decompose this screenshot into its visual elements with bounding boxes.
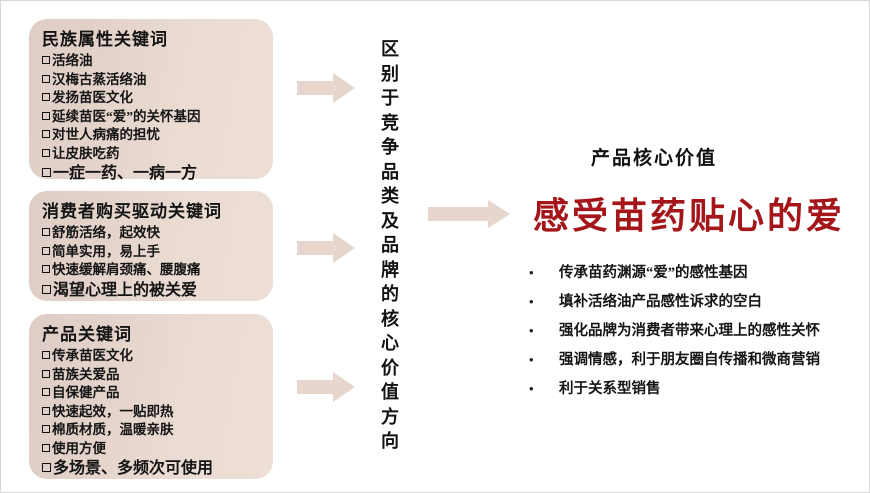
keyword-item: 多场景、多频次可使用 [42, 458, 263, 479]
vertical-char: 于 [377, 86, 403, 111]
keyword-item-label: 汉梅古蒸活络油 [52, 72, 147, 87]
keyword-item-label: 延续苗医“爱”的关怀基因 [52, 109, 201, 124]
keyword-item: 一症一药、一病一方 [42, 163, 263, 184]
vertical-char: 竞 [377, 111, 403, 136]
keyword-item: 快速缓解肩颈痛、腰腹痛 [42, 261, 263, 280]
keyword-item-label: 对世人病痛的担忧 [52, 127, 160, 142]
keyword-item-label: 多场景、多频次可使用 [53, 460, 213, 477]
arrow-head-icon [488, 200, 510, 228]
benefit-list-item: 传承苗药渊源“爱”的感性基因 [521, 259, 820, 288]
keyword-box-ethnic-attributes: 民族属性关键词 活络油 汉梅古蒸活络油 发扬苗医文化 延续苗医“爱”的关怀基因 … [29, 19, 273, 179]
vertical-char: 向 [377, 429, 403, 454]
keyword-box-product: 产品关键词 传承苗医文化 苗族关爱品 自保健产品 快速起效，一贴即热 棉质材质，… [29, 314, 273, 479]
keyword-list: 传承苗医文化 苗族关爱品 自保健产品 快速起效，一贴即热 棉质材质，温暖亲肤 使… [42, 347, 263, 479]
product-core-value-title: 产品核心价值 [591, 143, 717, 170]
checkbox-square-icon [42, 463, 51, 472]
vertical-char: 品 [377, 160, 403, 185]
benefit-list-item: 利于关系型销售 [521, 375, 820, 404]
checkbox-square-icon [42, 112, 50, 120]
checkbox-square-icon [42, 351, 50, 359]
keyword-item: 延续苗医“爱”的关怀基因 [42, 108, 263, 127]
checkbox-square-icon [42, 265, 50, 273]
keyword-item: 传承苗医文化 [42, 347, 263, 366]
benefit-list-item: 强化品牌为消费者带来心理上的感性关怀 [521, 317, 820, 346]
checkbox-square-icon [42, 425, 50, 433]
benefit-list-item: 填补活络油产品感性诉求的空白 [521, 288, 820, 317]
keyword-item-label: 苗族关爱品 [52, 367, 120, 382]
checkbox-square-icon [42, 388, 50, 396]
keyword-item-label: 快速缓解肩颈痛、腰腹痛 [52, 262, 201, 277]
checkbox-square-icon [42, 168, 51, 177]
vertical-char: 争 [377, 135, 403, 160]
keyword-item-label: 快速起效，一贴即热 [52, 404, 174, 419]
keyword-item-label: 发扬苗医文化 [52, 90, 133, 105]
arrow-shaft [428, 207, 490, 221]
checkbox-square-icon [42, 407, 50, 415]
keyword-box-purchase-drivers: 消费者购买驱动关键词 舒筋活络，起效快 简单实用，易上手 快速缓解肩颈痛、腰腹痛… [29, 191, 273, 301]
vertical-char: 及 [377, 209, 403, 234]
arrow-shaft [297, 241, 335, 255]
vertical-char: 的 [377, 282, 403, 307]
arrow-head-icon [333, 233, 355, 263]
vertical-char: 区 [377, 37, 403, 62]
arrow-box2-to-center [297, 233, 357, 263]
vertical-char: 方 [377, 405, 403, 430]
checkbox-square-icon [42, 444, 50, 452]
vertical-char: 心 [377, 331, 403, 356]
keyword-item-label: 棉质材质，温暖亲肤 [52, 422, 174, 437]
benefit-list: 传承苗药渊源“爱”的感性基因 填补活络油产品感性诉求的空白 强化品牌为消费者带来… [521, 259, 820, 404]
slide-canvas: 民族属性关键词 活络油 汉梅古蒸活络油 发扬苗医文化 延续苗医“爱”的关怀基因 … [0, 0, 870, 493]
vertical-char: 价 [377, 356, 403, 381]
arrow-head-icon [333, 372, 355, 402]
keyword-item: 发扬苗医文化 [42, 89, 263, 108]
arrow-box3-to-center [297, 372, 357, 402]
keyword-box-title: 消费者购买驱动关键词 [42, 200, 263, 223]
checkbox-square-icon [42, 75, 50, 83]
keyword-item: 对世人病痛的担忧 [42, 126, 263, 145]
checkbox-square-icon [42, 370, 50, 378]
keyword-item: 活络油 [42, 52, 263, 71]
arrow-box1-to-center [297, 73, 357, 103]
checkbox-square-icon [42, 285, 51, 294]
keyword-list: 舒筋活络，起效快 简单实用，易上手 快速缓解肩颈痛、腰腹痛 渴望心理上的被关爱 [42, 224, 263, 301]
keyword-item-label: 一症一药、一病一方 [53, 165, 197, 182]
benefit-list-item: 强调情感，利于朋友圈自传播和微商营销 [521, 346, 820, 375]
keyword-item: 简单实用，易上手 [42, 243, 263, 262]
checkbox-square-icon [42, 247, 50, 255]
keyword-item-label: 活络油 [52, 53, 93, 68]
keyword-box-title: 民族属性关键词 [42, 28, 263, 51]
product-core-value-slogan: 感受苗药贴心的爱 [533, 187, 845, 239]
vertical-char: 值 [377, 380, 403, 405]
keyword-item: 自保健产品 [42, 384, 263, 403]
vertical-char: 品 [377, 233, 403, 258]
keyword-item: 汉梅古蒸活络油 [42, 71, 263, 90]
vertical-char: 别 [377, 62, 403, 87]
keyword-item-label: 简单实用，易上手 [52, 244, 160, 259]
arrow-shaft [297, 380, 335, 394]
keyword-list: 活络油 汉梅古蒸活络油 发扬苗医文化 延续苗医“爱”的关怀基因 对世人病痛的担忧… [42, 52, 263, 184]
keyword-item-label: 传承苗医文化 [52, 348, 133, 363]
keyword-item: 棉质材质，温暖亲肤 [42, 421, 263, 440]
keyword-item: 渴望心理上的被关爱 [42, 280, 263, 301]
checkbox-square-icon [42, 149, 50, 157]
center-vertical-text: 区 别 于 竞 争 品 类 及 品 牌 的 核 心 价 值 方 向 [377, 37, 403, 454]
checkbox-square-icon [42, 93, 50, 101]
arrow-center-to-value [428, 200, 516, 228]
keyword-item-label: 让皮肤吃药 [52, 146, 120, 161]
keyword-item: 舒筋活络，起效快 [42, 224, 263, 243]
keyword-item: 苗族关爱品 [42, 366, 263, 385]
keyword-box-title: 产品关键词 [42, 323, 263, 346]
arrow-head-icon [333, 73, 355, 103]
keyword-item-label: 舒筋活络，起效快 [52, 225, 160, 240]
keyword-item: 快速起效，一贴即热 [42, 403, 263, 422]
checkbox-square-icon [42, 56, 50, 64]
arrow-shaft [297, 81, 335, 95]
checkbox-square-icon [42, 228, 50, 236]
keyword-item-label: 自保健产品 [52, 385, 120, 400]
keyword-item: 使用方便 [42, 440, 263, 459]
keyword-item: 让皮肤吃药 [42, 145, 263, 164]
keyword-item-label: 使用方便 [52, 441, 106, 456]
checkbox-square-icon [42, 130, 50, 138]
vertical-char: 核 [377, 307, 403, 332]
vertical-char: 牌 [377, 258, 403, 283]
vertical-char: 类 [377, 184, 403, 209]
keyword-item-label: 渴望心理上的被关爱 [53, 282, 197, 299]
